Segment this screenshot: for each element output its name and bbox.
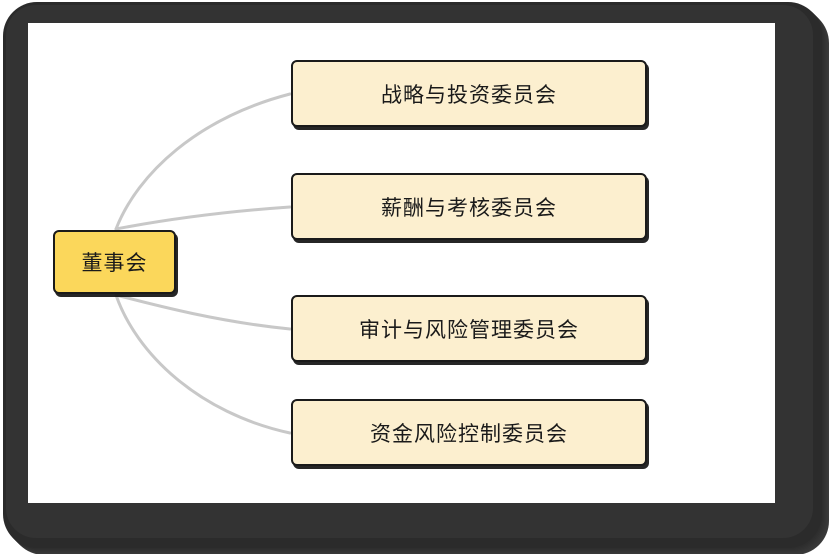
node-committee-fund-risk-control[interactable]: 资金风险控制委员会 [291, 399, 647, 466]
connector-board-to-audit-risk [116, 295, 290, 329]
node-committee-strategy-investment[interactable]: 战略与投资委员会 [291, 60, 647, 127]
node-committee-audit-risk[interactable]: 审计与风险管理委员会 [291, 295, 647, 362]
diagram-canvas: 董事会 战略与投资委员会 薪酬与考核委员会 审计与风险管理委员会 资金风险控制委… [28, 23, 775, 503]
node-committee-compensation-appraisal[interactable]: 薪酬与考核委员会 [291, 173, 647, 240]
node-board[interactable]: 董事会 [53, 230, 176, 294]
connector-board-to-compensation-appraisal [116, 207, 290, 229]
